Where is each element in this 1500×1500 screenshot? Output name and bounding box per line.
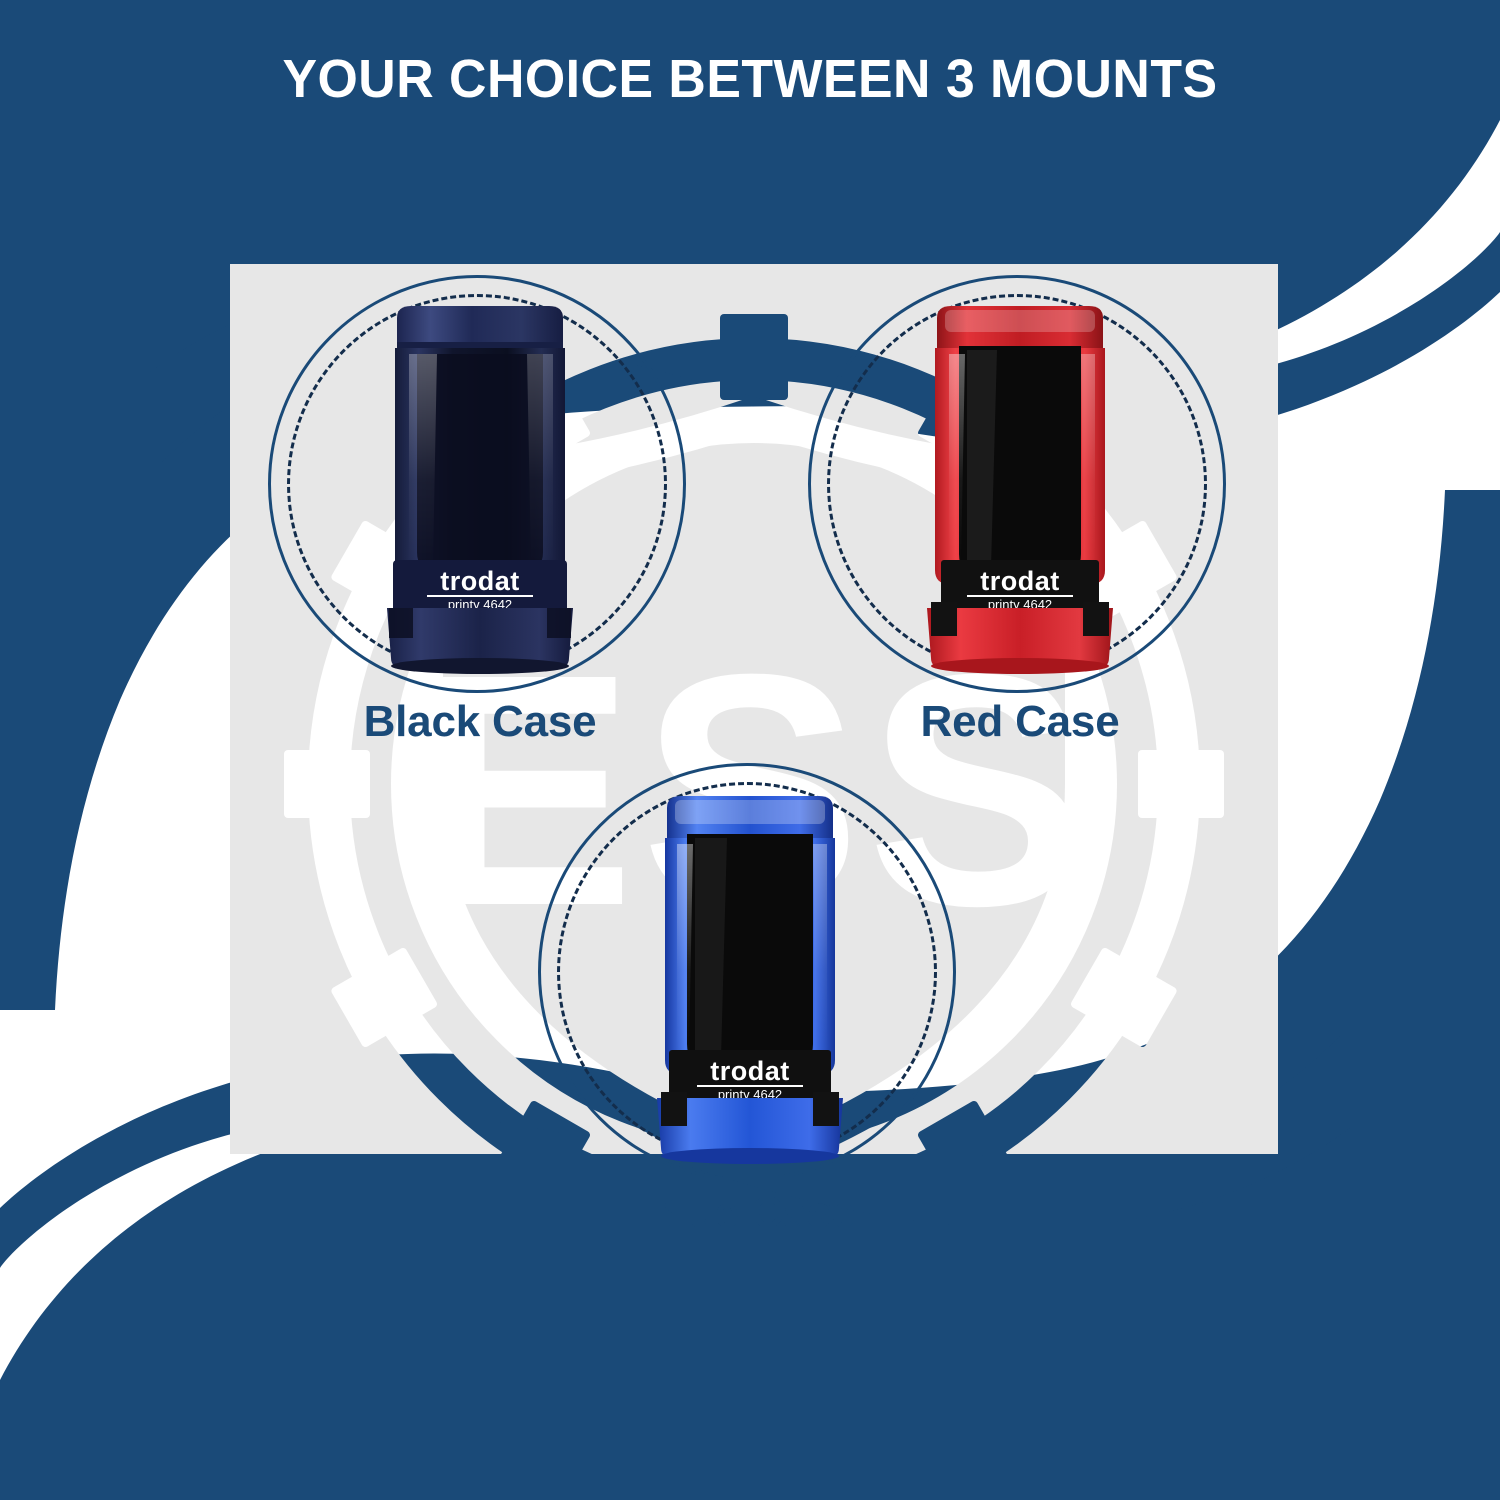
stamp-image-black: trodat printy 4642 [365,302,595,674]
svg-text:trodat: trodat [440,566,520,596]
svg-text:trodat: trodat [980,566,1060,596]
product-card-red-case[interactable]: trodat printy 4642 Red Case [805,272,1235,792]
product-card-blue-case[interactable]: trodat printy 4642 Blue Case [535,760,965,1280]
infographic-canvas: YOUR CHOICE BETWEEN 3 MOUNTS [0,0,1500,1500]
page-title: YOUR CHOICE BETWEEN 3 MOUNTS [30,48,1470,110]
svg-text:trodat: trodat [710,1056,790,1086]
product-caption-blue: Blue Case [535,1188,965,1238]
product-caption-red: Red Case [805,697,1235,747]
product-gallery: trodat printy 4642 Black Case [0,0,1500,1500]
stamp-image-blue: trodat printy 4642 [635,792,865,1164]
stamp-image-red: trodat printy 4642 [905,302,1135,674]
product-card-black-case[interactable]: trodat printy 4642 Black Case [265,272,695,792]
product-caption-black: Black Case [265,697,695,747]
